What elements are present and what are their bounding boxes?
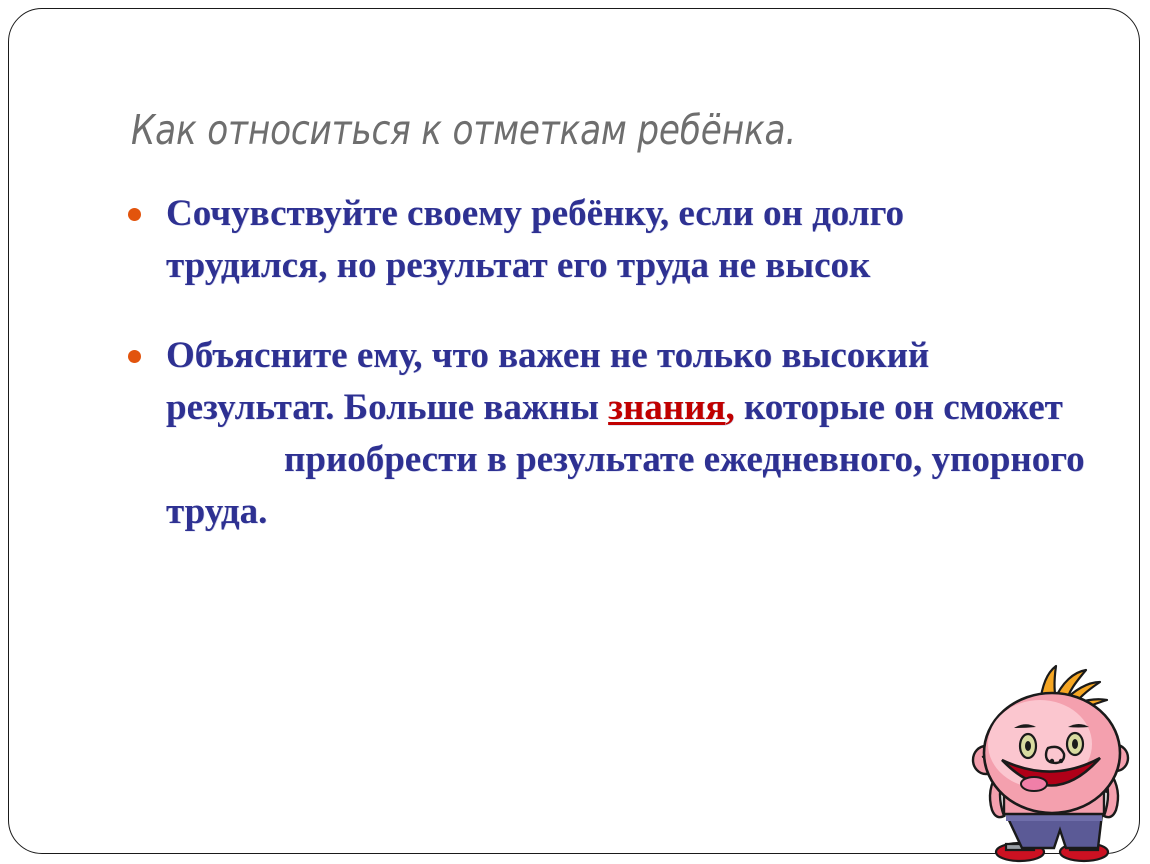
left-nostril [1050,759,1054,763]
bullet-1-line-1: Сочувствуйте своему ребёнку, если он дол… [166,188,1102,240]
highlight-trailing-comma: , [725,387,734,428]
bullet-dot-icon [128,208,141,221]
tongue [1021,777,1047,791]
bullet-2-segment-3: приобрести в результате ежедневного, упо… [166,439,1085,532]
cartoon-baby-illustration [962,656,1148,864]
bullet-1-line-2: трудился, но результат его труда не высо… [166,240,1102,292]
left-pupil [1025,741,1031,751]
list-item: Объясните ему, что важен не только высок… [112,330,1102,538]
bullet-dot-icon [128,350,141,363]
right-pupil [1072,739,1078,749]
page-title: Как относиться к отметкам ребёнка. [131,106,996,154]
list-item: Сочувствуйте своему ребёнку, если он дол… [112,188,1102,292]
bullet-list: Сочувствуйте своему ребёнку, если он дол… [112,188,1102,538]
slide-canvas: Как относиться к отметкам ребёнка. Сочув… [0,0,1150,864]
bullet-2-segment-2: которые он сможет [735,387,1063,428]
highlighted-keyword: знания [608,387,725,428]
cartoon-baby-image [962,656,1148,864]
right-nostril [1059,759,1063,763]
